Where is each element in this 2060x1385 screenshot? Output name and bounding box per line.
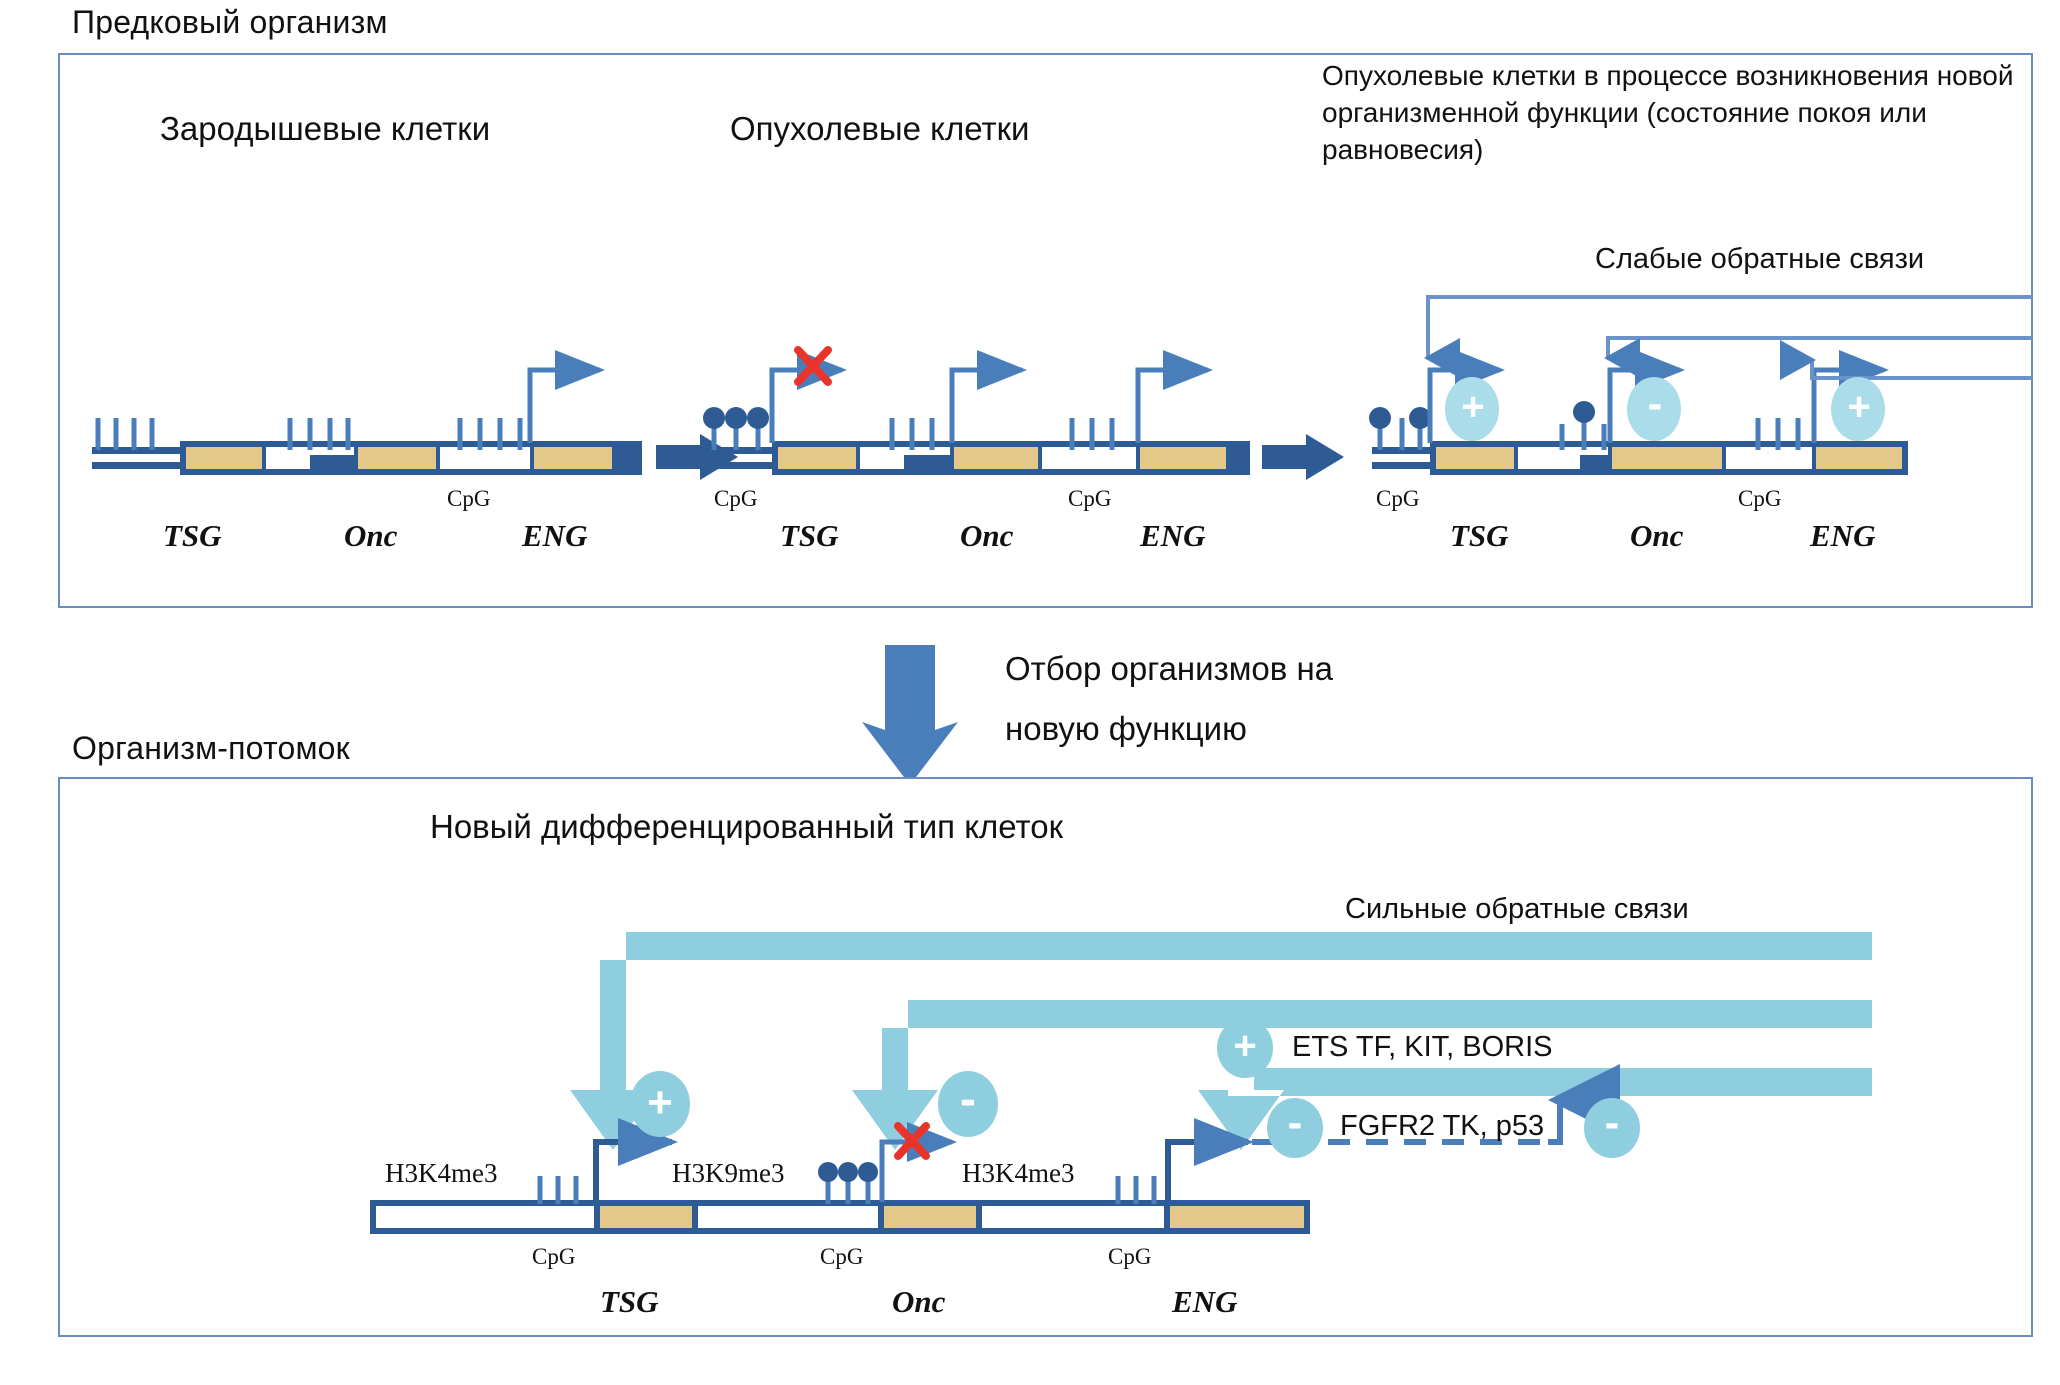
- cpg-label: CpG: [714, 486, 757, 512]
- gene-label-onc: Onc: [892, 1284, 945, 1320]
- negative-factors-label: FGFR2 TK, p53: [1340, 1110, 1544, 1143]
- bottom-sign-minus-onc: -: [952, 1072, 984, 1127]
- top-sign-plus-tsg: +: [1458, 385, 1488, 430]
- bottom-sign-minus-factors-left: -: [1279, 1098, 1311, 1148]
- gene-label-onc: Onc: [1630, 518, 1683, 554]
- selection-text-line2: новую функцию: [1005, 705, 1247, 753]
- selection-text-line1: Отбор организмов на: [1005, 645, 1333, 693]
- cpg-label: CpG: [1068, 486, 1111, 512]
- cpg-label: CpG: [447, 486, 490, 512]
- gene-label-tsg: TSG: [1450, 518, 1509, 554]
- top-sign-minus-onc: -: [1640, 379, 1670, 429]
- gene-label-eng: ENG: [522, 518, 587, 554]
- histone-mark-label: H3K4me3: [962, 1158, 1074, 1189]
- cpg-label: CpG: [1376, 486, 1419, 512]
- bottom-sign-plus-factors: +: [1229, 1024, 1261, 1069]
- histone-mark-label: H3K4me3: [385, 1158, 497, 1189]
- down-arrow-icon: [862, 645, 958, 785]
- bottom-sign-minus-factors-right: -: [1596, 1098, 1628, 1148]
- gene-label-tsg: TSG: [600, 1284, 659, 1320]
- descendant-organism-panel: [58, 777, 2033, 1337]
- cpg-label: CpG: [1738, 486, 1781, 512]
- strong-feedback-label: Сильные обратные связи: [1345, 893, 1689, 926]
- bottom-sign-plus-tsg: +: [644, 1078, 676, 1128]
- gene-label-eng: ENG: [1810, 518, 1875, 554]
- cpg-label: CpG: [1108, 1244, 1151, 1270]
- histone-mark-label: H3K9me3: [672, 1158, 784, 1189]
- gene-label-tsg: TSG: [163, 518, 222, 554]
- cpg-label: CpG: [532, 1244, 575, 1270]
- gene-label-tsg: TSG: [780, 518, 839, 554]
- positive-factors-label: ETS TF, KIT, BORIS: [1292, 1031, 1553, 1064]
- top-panel-title: Предковый организм: [72, 4, 388, 41]
- tumor-cells-header: Опухолевые клетки: [730, 110, 1029, 148]
- top-sign-plus-eng: +: [1844, 385, 1874, 430]
- new-function-description: Опухолевые клетки в процессе возникновен…: [1322, 58, 2022, 169]
- gene-label-onc: Onc: [960, 518, 1013, 554]
- gene-label-onc: Onc: [344, 518, 397, 554]
- cpg-label: CpG: [820, 1244, 863, 1270]
- new-cell-type-header: Новый дифференцированный тип клеток: [430, 808, 1063, 846]
- germ-cells-header: Зародышевые клетки: [160, 110, 490, 148]
- bottom-panel-title: Организм-потомок: [72, 730, 350, 767]
- weak-feedback-label: Слабые обратные связи: [1595, 243, 1924, 276]
- gene-label-eng: ENG: [1140, 518, 1205, 554]
- gene-label-eng: ENG: [1172, 1284, 1237, 1320]
